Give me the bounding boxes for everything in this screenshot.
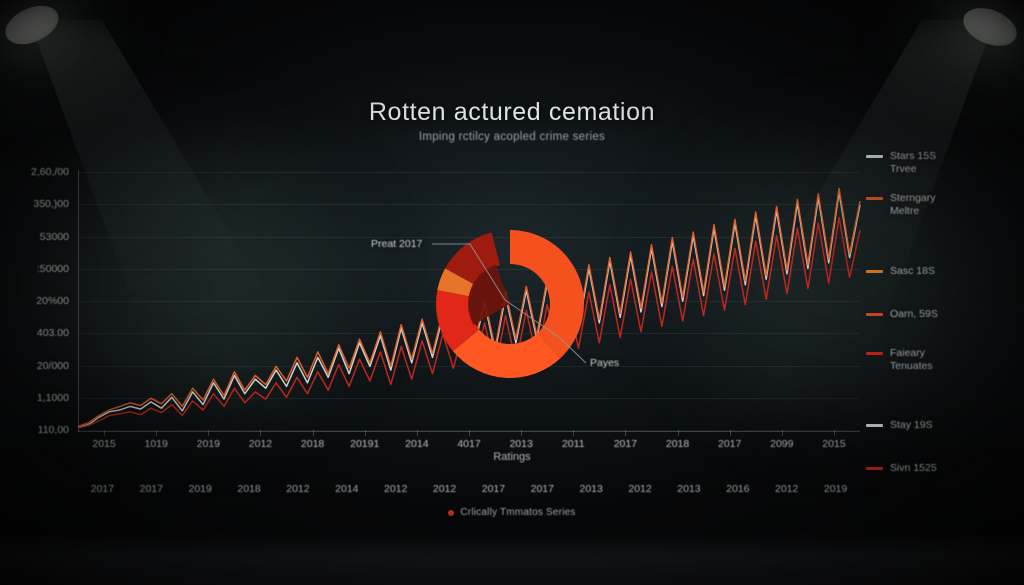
x-axis-tick-mark: [156, 430, 157, 436]
x-axis-tick-mark: [678, 430, 679, 436]
legend-item-label: Stars 15S Trvee: [890, 150, 936, 175]
x-axis-tick-label: 4017: [457, 438, 480, 450]
donut-chart-svg: [434, 228, 586, 380]
legend-bottom[interactable]: Crlically Tmmatos Series: [0, 507, 1024, 518]
x-axis-tick-mark: [469, 430, 470, 436]
x-axis-tick-mark: [521, 430, 522, 436]
x-axis-tick-label: 2017: [531, 483, 554, 495]
y-axis-tick-label: 53000: [40, 231, 69, 243]
legend-swatch-icon: [866, 270, 883, 273]
x-axis-tick-mark: [625, 430, 626, 436]
x-axis-tick-mark: [417, 430, 418, 436]
legend-swatch-icon: [866, 424, 883, 427]
x-axis-tick-mark: [208, 430, 209, 436]
legend-item[interactable]: Faieary Tenuates: [866, 347, 933, 372]
legend-bottom-label: Crlically Tmmatos Series: [460, 507, 575, 518]
x-axis-tick-label: 2014: [335, 483, 358, 495]
screenshot-stage: Rotten actured cemation Imping rctilcy a…: [0, 0, 1024, 585]
legend-bottom-dot-icon: [448, 510, 454, 516]
x-axis-tick-label: 2099: [770, 438, 793, 450]
x-axis-tick-label: 2017: [91, 483, 114, 495]
legend-item[interactable]: Sasc 18S: [866, 265, 935, 278]
x-axis-tick-label: 1019: [145, 438, 168, 450]
x-axis-tick-label: 2011: [562, 438, 585, 450]
y-axis-tick-label: 110,00: [38, 424, 69, 436]
x-axis-tick-label: 2012: [249, 438, 272, 450]
x-axis-tick-label: 2013: [509, 438, 532, 450]
legend-swatch-icon: [866, 155, 883, 158]
x-axis-tick-label: 2016: [726, 483, 749, 495]
x-axis-tick-label: 2018: [237, 483, 260, 495]
legend-item[interactable]: Sterngary Meltre: [866, 192, 936, 217]
x-axis-tick-mark: [313, 430, 314, 436]
x-axis-tick-label: 2013: [580, 483, 603, 495]
x-axis-tick-mark: [573, 430, 574, 436]
x-axis-tick-label: 2019: [197, 438, 220, 450]
x-axis-tick-mark: [782, 430, 783, 436]
legend-item[interactable]: Stars 15S Trvee: [866, 150, 936, 175]
x-axis-tick-label: 2018: [301, 438, 324, 450]
legend-item-label: Sterngary Meltre: [890, 192, 936, 217]
x-axis-tick-label: 2019: [824, 483, 847, 495]
legend-item-label: Stay 19S: [890, 419, 933, 432]
legend-item[interactable]: Stay 19S: [866, 419, 933, 432]
legend-item-label: Faieary Tenuates: [890, 347, 933, 372]
x-axis-tick-label: 2017: [482, 483, 505, 495]
legend-item-label: Sasc 18S: [890, 265, 935, 278]
x-axis-tick-mark: [365, 430, 366, 436]
legend-swatch-icon: [866, 197, 883, 200]
x-axis-tick-label: 2012: [775, 483, 798, 495]
legend-item-label: Oarn, 59S: [890, 308, 938, 321]
x-axis-tick-mark: [260, 430, 261, 436]
y-axis-tick-label: :50000: [37, 263, 69, 275]
y-axis-tick-label: 350,)00: [33, 198, 69, 210]
legend-swatch-icon: [866, 467, 883, 470]
x-axis-tick-labels-row2: 2017201720192018201220142012201220172017…: [78, 481, 860, 499]
donut-annotation-right: Payes: [590, 357, 619, 369]
donut-chart[interactable]: [434, 228, 586, 380]
x-axis-tick-label: 2019: [189, 483, 212, 495]
x-axis-tick-label: 2012: [628, 483, 651, 495]
x-axis-tick-label: 2012: [433, 483, 456, 495]
y-axis-tick-label: 20/000: [37, 360, 69, 372]
x-axis-tick-label: 2017: [140, 483, 163, 495]
y-axis-tick-label: 2,60,/00: [31, 166, 69, 178]
x-axis-tick-label: 2015: [92, 438, 115, 450]
x-axis-tick-label: 2014: [405, 438, 428, 450]
x-axis-tick-label: 2017: [614, 438, 637, 450]
legend-swatch-icon: [866, 313, 883, 316]
x-axis-tick-mark: [730, 430, 731, 436]
x-axis-tick-label: 20191: [350, 438, 379, 450]
legend-item-label: Sivn 1525: [890, 462, 937, 475]
x-axis-tick-label: 2017: [718, 438, 741, 450]
donut-slice[interactable]: [510, 230, 584, 358]
x-axis-tick-label: 2015: [822, 438, 845, 450]
donut-annotation-left: Preat 2017: [371, 238, 422, 250]
x-axis-tick-mark: [834, 430, 835, 436]
y-axis-tick-label: 1,1000: [37, 392, 69, 404]
y-axis-tick-label: 20%00: [36, 295, 69, 307]
legend-item[interactable]: Sivn 1525: [866, 462, 937, 475]
chart-subtitle: Imping rctilcy acopled crime series: [0, 131, 1024, 143]
x-axis-tick-mark: [104, 430, 105, 436]
x-axis-tick-label: 2012: [384, 483, 407, 495]
chart-panel: Rotten actured cemation Imping rctilcy a…: [0, 0, 1024, 585]
chart-title: Rotten actured cemation: [0, 98, 1024, 127]
x-axis-tick-label: 2012: [286, 483, 309, 495]
y-axis-tick-label: 403.00: [37, 327, 69, 339]
x-axis-tick-label: 2018: [666, 438, 689, 450]
x-axis-tick-label: 2013: [677, 483, 700, 495]
legend-item[interactable]: Oarn, 59S: [866, 308, 938, 321]
legend-swatch-icon: [866, 352, 883, 355]
